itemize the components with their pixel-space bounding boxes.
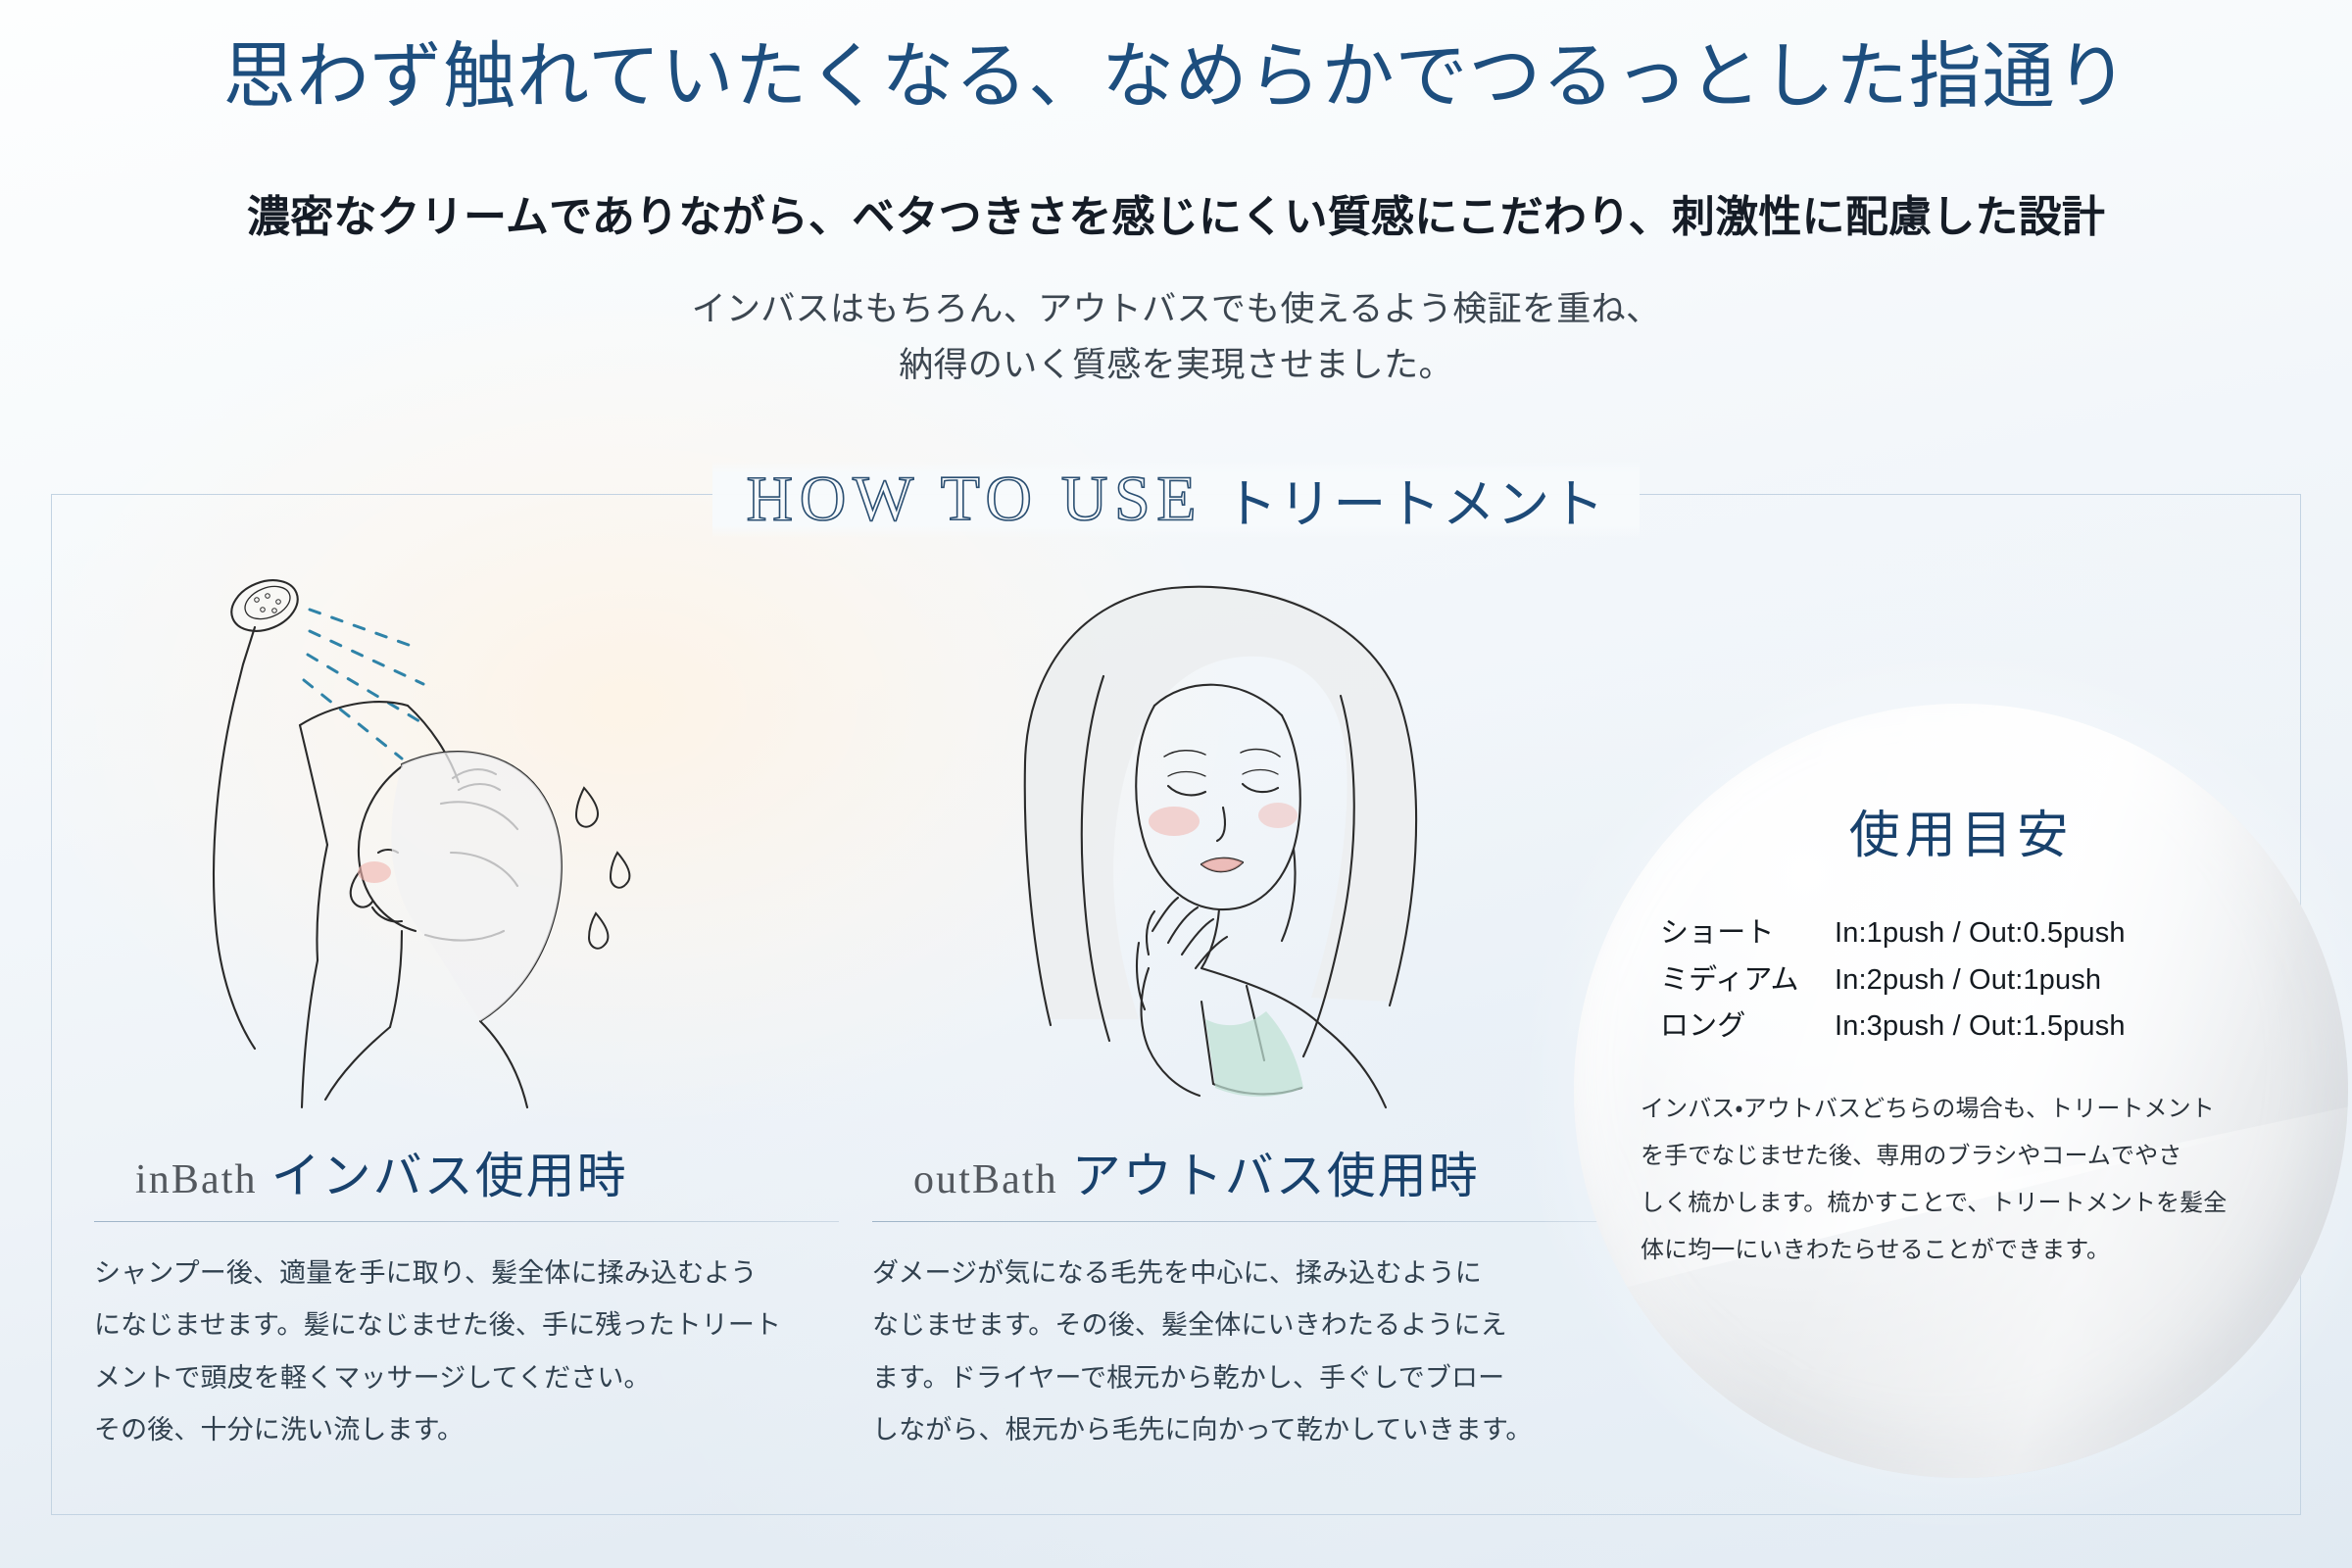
body-line-3: ます。ドライヤーで根元から乾かし、手ぐしでブロー (872, 1352, 1617, 1404)
page-subtitle: 濃密なクリームでありながら、ベタつきさを感じにくい質感にこだわり、刺激性に配慮し… (0, 192, 2352, 244)
body-in-bath: シャンプー後、適量を手に取り、髪全体に揉み込むよう になじませます。髪になじませ… (94, 1248, 839, 1457)
table-row: ロング In:3push / Out:1.5push (1660, 1004, 2126, 1051)
lead-line-1: インバスはもちろん、アウトバスでも使えるよう検証を重ね、 (0, 282, 2352, 338)
hair-length-medium: ミディアム (1660, 957, 1835, 1004)
usage-guide-title: 使用目安 (1635, 794, 2287, 867)
note-line-1: インバス・アウトバスどちらの場合も、トリートメント (1641, 1086, 2283, 1133)
water-spray-icon (304, 610, 423, 759)
amount-long: In:3push / Out:1.5push (1835, 1004, 2126, 1051)
water-droplets-icon (576, 788, 629, 949)
body-line-1: シャンプー後、適量を手に取り、髪全体に揉み込むよう (94, 1248, 839, 1299)
body-line-3: メントで頭皮を軽くマッサージしてください。 (94, 1352, 839, 1404)
hair-length-short: ショート (1660, 910, 1835, 957)
usage-guide-table: ショート In:1push / Out:0.5push ミディアム In:2pu… (1660, 910, 2126, 1051)
lead-line-2: 納得のいく質感を実現させました。 (0, 338, 2352, 394)
woman-touching-dry-hair-icon (882, 559, 1548, 1147)
note-line-2: を手でなじませた後、専用のブラシやコームでやさ (1641, 1133, 2283, 1180)
page-title: 思わず触れていたくなる、なめらかでつるっとした指通り (0, 37, 2352, 119)
body-line-4: しながら、根元から毛先に向かって乾かしていきます。 (872, 1404, 1617, 1456)
caption-in-bath: inBathインバス使用時 (94, 1137, 839, 1207)
body-line-1: ダメージが気になる毛先を中心に、揉み込むように (872, 1248, 1617, 1299)
caption-in-bath-ja: インバス使用時 (271, 1149, 628, 1203)
table-row: ショート In:1push / Out:0.5push (1660, 910, 2126, 957)
caption-divider (872, 1221, 1617, 1222)
hair-length-long: ロング (1660, 1004, 1835, 1051)
caption-out-bath: outBathアウトバス使用時 (872, 1137, 1617, 1207)
body-line-2: になじませます。髪になじませた後、手に残ったトリート (94, 1299, 839, 1351)
note-line-3: しく梳かします。梳かすことで、トリートメントを髪全 (1641, 1180, 2283, 1227)
caption-out-bath-ja: アウトバス使用時 (1072, 1149, 1480, 1203)
illustration-in-bath (108, 559, 833, 1147)
caption-out-bath-en: outBath (913, 1157, 1058, 1202)
amount-medium: In:2push / Out:1push (1835, 957, 2126, 1004)
body-out-bath: ダメージが気になる毛先を中心に、揉み込むように なじませます。その後、髪全体にい… (872, 1248, 1617, 1457)
woman-rinsing-hair-in-shower-icon (108, 559, 833, 1147)
caption-in-bath-en: inBath (135, 1157, 258, 1202)
caption-divider (94, 1221, 839, 1222)
lead-paragraph: インバスはもちろん、アウトバスでも使えるよう検証を重ね、 納得のいく質感を実現さ… (0, 282, 2352, 393)
column-out-bath: outBathアウトバス使用時 ダメージが気になる毛先を中心に、揉み込むように … (872, 1137, 1617, 1457)
illustration-out-bath (882, 559, 1548, 1147)
promo-page: 思わず触れていたくなる、なめらかでつるっとした指通り 濃密なクリームでありながら… (0, 0, 2352, 1568)
usage-guide-sphere: 使用目安 ショート In:1push / Out:0.5push ミディアム I… (1574, 704, 2348, 1478)
body-line-2: なじませます。その後、髪全体にいきわたるようにえ (872, 1299, 1617, 1351)
note-line-4: 体に均一にいきわたらせることができます。 (1641, 1227, 2283, 1274)
usage-guide-content: 使用目安 ショート In:1push / Out:0.5push ミディアム I… (1574, 704, 2348, 1478)
body-line-4: その後、十分に洗い流します。 (94, 1404, 839, 1456)
table-row: ミディアム In:2push / Out:1push (1660, 957, 2126, 1004)
column-in-bath: inBathインバス使用時 シャンプー後、適量を手に取り、髪全体に揉み込むよう … (94, 1137, 839, 1457)
usage-guide-note: インバス・アウトバスどちらの場合も、トリートメント を手でなじませた後、専用のブ… (1641, 1086, 2283, 1274)
amount-short: In:1push / Out:0.5push (1835, 910, 2126, 957)
